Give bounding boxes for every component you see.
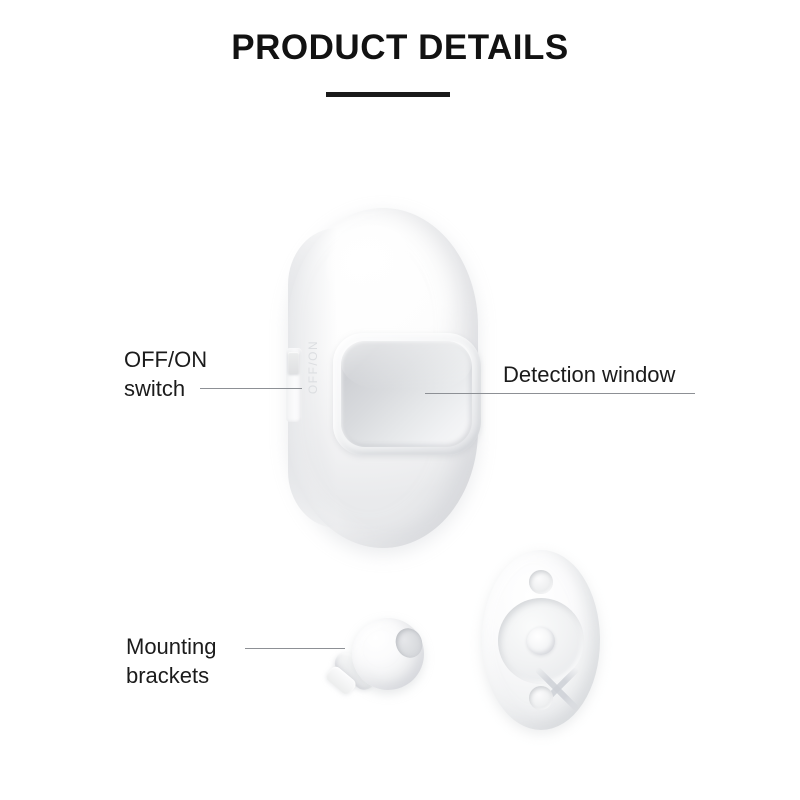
detection-window-lens-gloss bbox=[341, 341, 472, 390]
page-title: PRODUCT DETAILS bbox=[0, 28, 800, 68]
wall-plate-screw-hole-top bbox=[529, 570, 553, 594]
wall-plate-socket-hub bbox=[527, 627, 555, 655]
off-on-switch-legend: OFF/ON bbox=[306, 332, 320, 402]
leader-line-detection-window bbox=[425, 393, 695, 394]
detection-window-lens bbox=[341, 341, 472, 447]
off-on-switch-nub[interactable] bbox=[288, 352, 299, 374]
leader-line-off-on-switch bbox=[200, 388, 302, 389]
title-divider-rule bbox=[326, 92, 450, 97]
oval-wall-plate-bracket bbox=[482, 550, 600, 730]
product-details-image: PRODUCT DETAILS OFF/ON OFF/ON switch Det… bbox=[0, 0, 800, 800]
sensor-body-top-highlight bbox=[326, 225, 425, 313]
wall-plate-screw-hole-bottom bbox=[529, 686, 553, 710]
ball-joint-bracket bbox=[330, 608, 434, 716]
leader-line-mounting-brackets bbox=[245, 648, 345, 649]
callout-label-detection-window: Detection window bbox=[503, 360, 675, 389]
callout-label-mounting-brackets: Mounting brackets bbox=[126, 632, 217, 690]
callout-label-off-on-switch: OFF/ON switch bbox=[124, 345, 207, 403]
